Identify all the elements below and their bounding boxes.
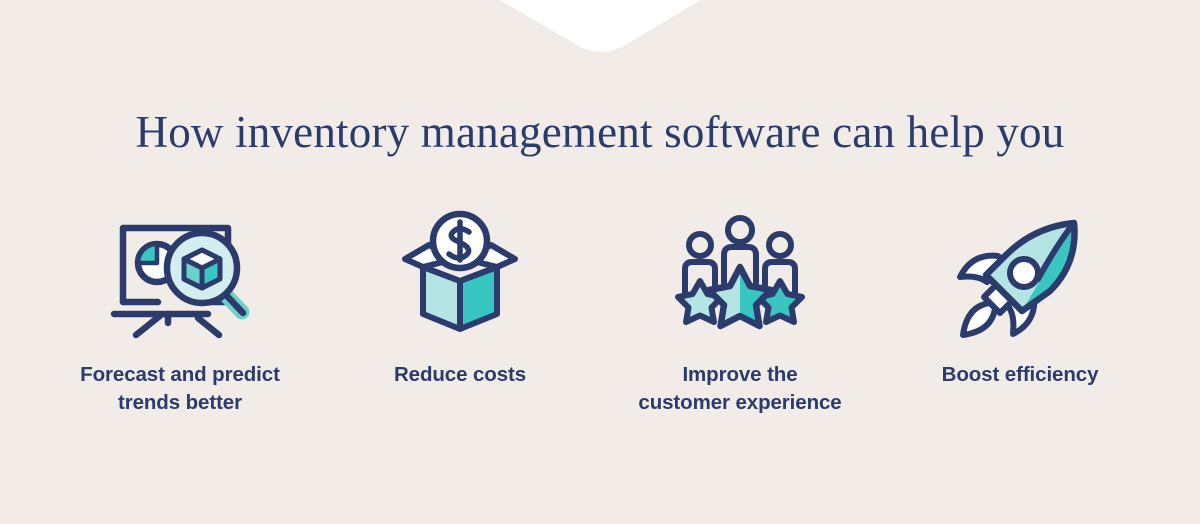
feature-item-forecast: Forecast and predicttrends better	[40, 205, 320, 417]
infographic-panel: How inventory management software can he…	[0, 0, 1200, 524]
feature-label: Forecast and predicttrends better	[80, 361, 280, 417]
feature-item-reduce-costs: Reduce costs	[320, 205, 600, 389]
rocket-icon	[945, 205, 1095, 345]
features-row: Forecast and predicttrends better	[40, 205, 1160, 417]
feature-label: Boost efficiency	[942, 361, 1099, 389]
feature-item-boost-efficiency: Boost efficiency	[880, 205, 1160, 389]
feature-label: Improve thecustomer experience	[638, 361, 841, 417]
page-title: How inventory management software can he…	[0, 104, 1200, 160]
presentation-chart-magnifier-cube-icon	[105, 205, 255, 345]
open-box-dollar-coin-icon	[385, 205, 535, 345]
feature-item-customer-experience: Improve thecustomer experience	[600, 205, 880, 417]
people-stars-rating-icon	[665, 205, 815, 345]
feature-label: Reduce costs	[394, 361, 526, 389]
chevron-down-notch-icon	[0, 0, 1200, 70]
